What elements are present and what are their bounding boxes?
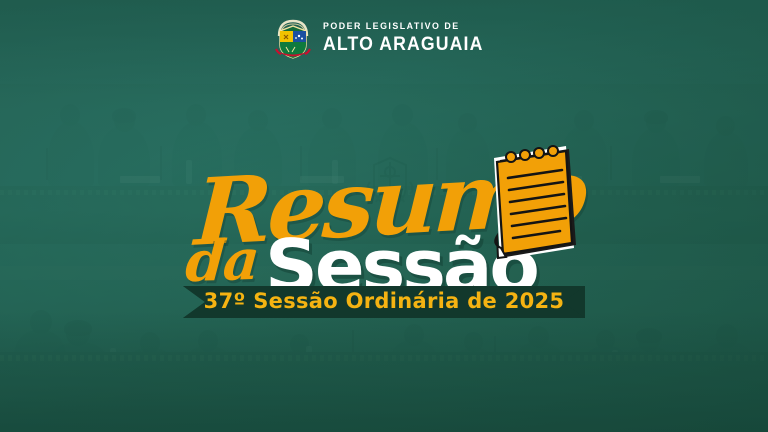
vignette-overlay — [0, 0, 768, 432]
notepad-icon — [470, 144, 580, 262]
subtitle-ribbon — [183, 286, 585, 318]
coat-of-arms-icon — [273, 16, 313, 60]
brand-line-1: PODER LEGISLATIVO DE — [323, 22, 483, 32]
banner-stage: PODER LEGISLATIVO DE ALTO ARAGUAIA — [0, 0, 768, 432]
brand-header: PODER LEGISLATIVO DE ALTO ARAGUAIA — [0, 16, 768, 60]
brand-line-2: ALTO ARAGUAIA — [323, 35, 483, 54]
brand-wordmark: PODER LEGISLATIVO DE ALTO ARAGUAIA — [323, 22, 496, 54]
coat-of-arms-watermark-icon — [360, 152, 420, 214]
